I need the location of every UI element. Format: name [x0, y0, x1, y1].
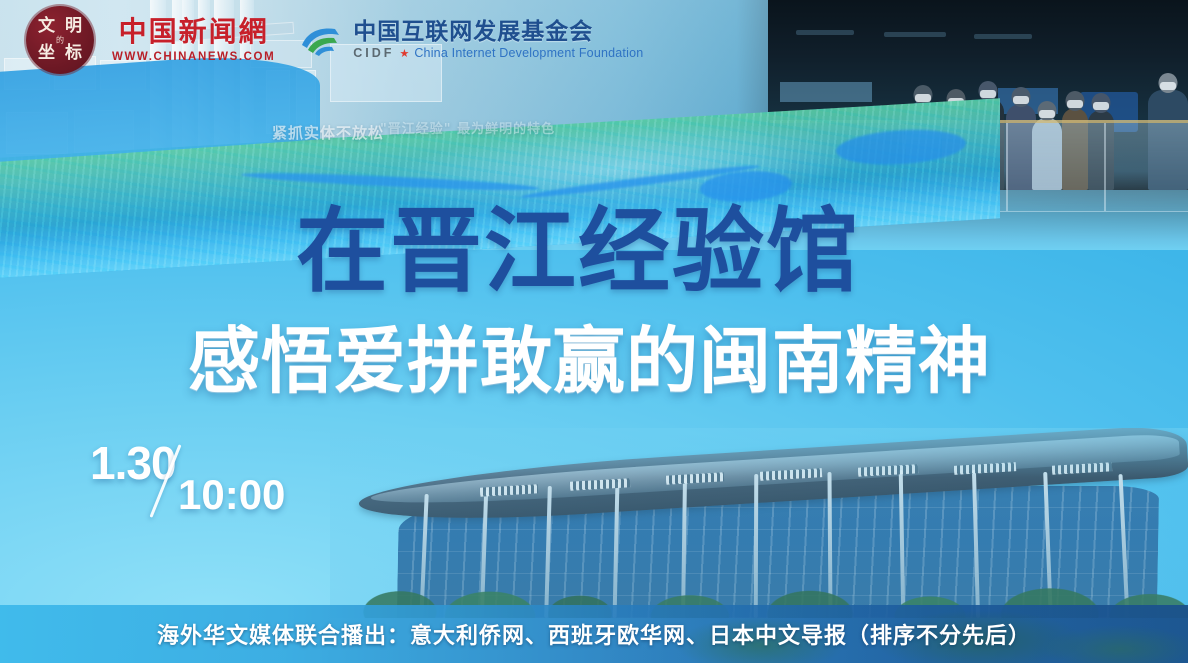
broadcast-datetime: 1.30 10:00 [86, 440, 346, 520]
cidf-abbr: CIDF [353, 46, 394, 60]
cidf-title-en: China Internet Development Foundation [414, 46, 643, 60]
railing-post [1006, 123, 1008, 211]
cidf-wave-icon [299, 23, 345, 57]
chinanews-logo[interactable]: 中国新闻網 WWW.CHINANEWS.COM [112, 18, 275, 63]
broadcast-date: 1.30 [90, 440, 176, 486]
cidf-title-cn: 中国互联网发展基金会 [353, 20, 643, 44]
page-title-line2: 感悟爱拼敢赢的闽南精神 [188, 325, 991, 397]
star-icon: ★ [399, 47, 409, 60]
broadcast-time: 10:00 [178, 474, 285, 516]
jinjiang-museum-building [330, 428, 1188, 618]
logo-bar: 文 明 坐 标 的 中国新闻網 WWW.CHINANEWS.COM 中国互联网发… [0, 0, 1188, 80]
banner-text: 海外华文媒体联合播出：意大利侨网、西班牙欧华网、日本中文导报（排序不分先后） [157, 618, 1031, 650]
chinanews-title: 中国新闻網 [119, 18, 269, 46]
seal-center-char: 的 [56, 35, 64, 46]
wenming-seal-icon: 文 明 坐 标 的 [26, 6, 94, 74]
chinanews-url: WWW.CHINANEWS.COM [112, 51, 275, 63]
seal-char-1: 文 [38, 18, 55, 35]
poster-root: 紧抓实体不放松 "晋江经验" 最为鲜明的特色 文 明 坐 标 的 中国新闻網 W… [0, 0, 1188, 663]
cidf-en-row: CIDF ★ China Internet Development Founda… [353, 46, 643, 60]
seal-char-3: 坐 [38, 45, 55, 62]
cidf-text-block: 中国互联网发展基金会 CIDF ★ China Internet Develop… [353, 20, 643, 60]
background-text-1: 紧抓实体不放松 [272, 122, 384, 143]
railing-post [1104, 123, 1106, 211]
background-text-2: "晋江经验" 最为鲜明的特色 [380, 118, 555, 137]
seal-char-4: 标 [65, 45, 82, 62]
atmospheric-haze [330, 428, 1188, 618]
seal-char-2: 明 [65, 18, 82, 35]
page-title-line1: 在晋江经验馆 [296, 206, 860, 298]
cidf-logo[interactable]: 中国互联网发展基金会 CIDF ★ China Internet Develop… [299, 20, 643, 60]
broadcast-partners-banner: 海外华文媒体联合播出：意大利侨网、西班牙欧华网、日本中文导报（排序不分先后） [0, 605, 1188, 663]
